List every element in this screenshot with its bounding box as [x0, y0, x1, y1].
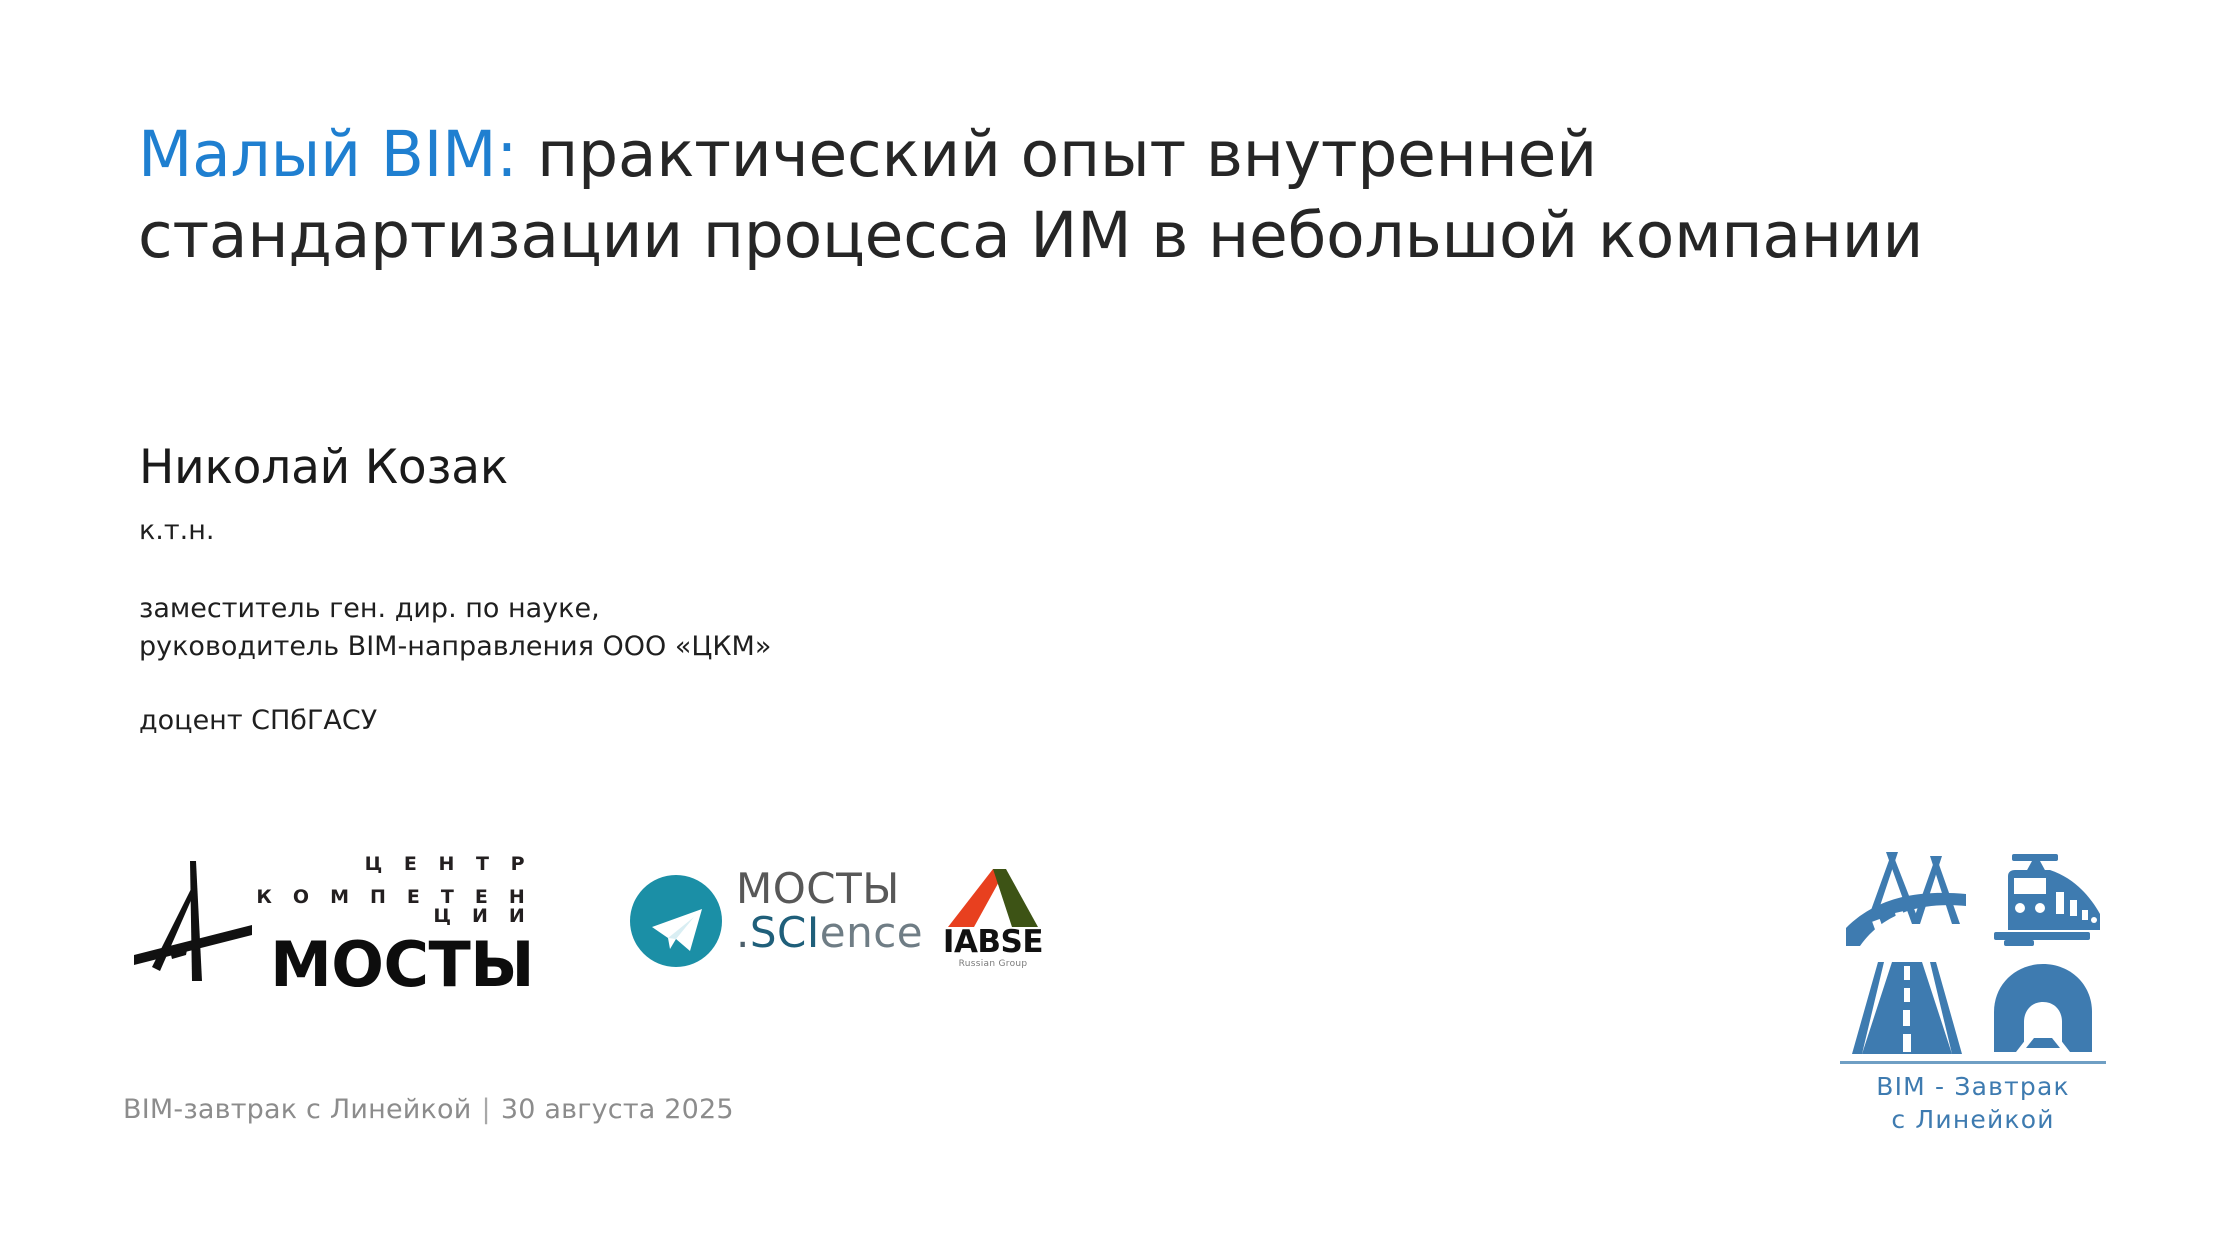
logo-ckm-line-3: МОСТЫ	[254, 934, 534, 996]
logo-science-ence: ence	[820, 908, 923, 957]
bim-breakfast-icon-grid	[1838, 848, 2108, 1060]
bim-logo-caption-line-2: с Линейкой	[1838, 1103, 2108, 1136]
footer-date: 30 августа 2025	[501, 1094, 734, 1125]
iabse-name: IABSE	[938, 927, 1048, 958]
slide-footer: BIM-завтрак с Линейкой|30 августа 2025	[123, 1094, 734, 1125]
logo-ckm-line-2: К О М П Е Т Е Н Ц И И	[254, 888, 534, 926]
logo-science-sci: SCI	[750, 908, 820, 957]
title-accent-text: Малый BIM:	[138, 118, 517, 191]
bridge-pylon-icon	[130, 855, 258, 987]
slide-canvas: Малый BIM: практический опыт внутренней …	[0, 0, 2240, 1260]
logo-mosty-science-telegram: МОСТЫ .SCIence	[630, 867, 970, 977]
author-role: заместитель ген. дир. по науке, руководи…	[139, 590, 771, 667]
logo-ckm-line-1: Ц Е Н Т Р	[254, 855, 534, 874]
author-role-line-2: руководитель BIM-направления ООО «ЦКМ»	[139, 628, 771, 666]
logo-ckm-wordmark: Ц Е Н Т Р К О М П Е Т Е Н Ц И И МОСТЫ	[254, 855, 534, 996]
logo-iabse-russian-group: IABSE Russian Group	[938, 869, 1048, 977]
road-icon	[1848, 960, 1966, 1056]
train-icon	[1984, 852, 2104, 950]
footer-event-name: BIM-завтрак с Линейкой	[123, 1094, 472, 1125]
telegram-icon	[630, 875, 722, 967]
bim-logo-caption-line-1: BIM - Завтрак	[1838, 1070, 2108, 1103]
iabse-arch-icon	[946, 869, 1040, 927]
author-affiliation: доцент СПбГАСУ	[139, 705, 377, 736]
tunnel-icon	[1986, 960, 2100, 1056]
bim-logo-caption: BIM - Завтрак с Линейкой	[1838, 1070, 2108, 1136]
author-degree: к.т.н.	[139, 515, 214, 546]
logo-bim-breakfast-with-lineika: BIM - Завтрак с Линейкой	[1838, 848, 2108, 1148]
logo-center-of-competence-mosty: Ц Е Н Т Р К О М П Е Т Е Н Ц И И МОСТЫ	[130, 855, 530, 990]
footer-separator: |	[472, 1094, 501, 1125]
iabse-subtitle: Russian Group	[938, 959, 1048, 969]
bridge-icon	[1844, 850, 1968, 950]
author-name: Николай Козак	[139, 440, 508, 495]
logo-science-dot: .	[736, 908, 750, 957]
page-title: Малый BIM: практический опыт внутренней …	[138, 115, 2118, 276]
author-role-line-1: заместитель ген. дир. по науке,	[139, 590, 771, 628]
bim-logo-divider	[1840, 1061, 2106, 1064]
